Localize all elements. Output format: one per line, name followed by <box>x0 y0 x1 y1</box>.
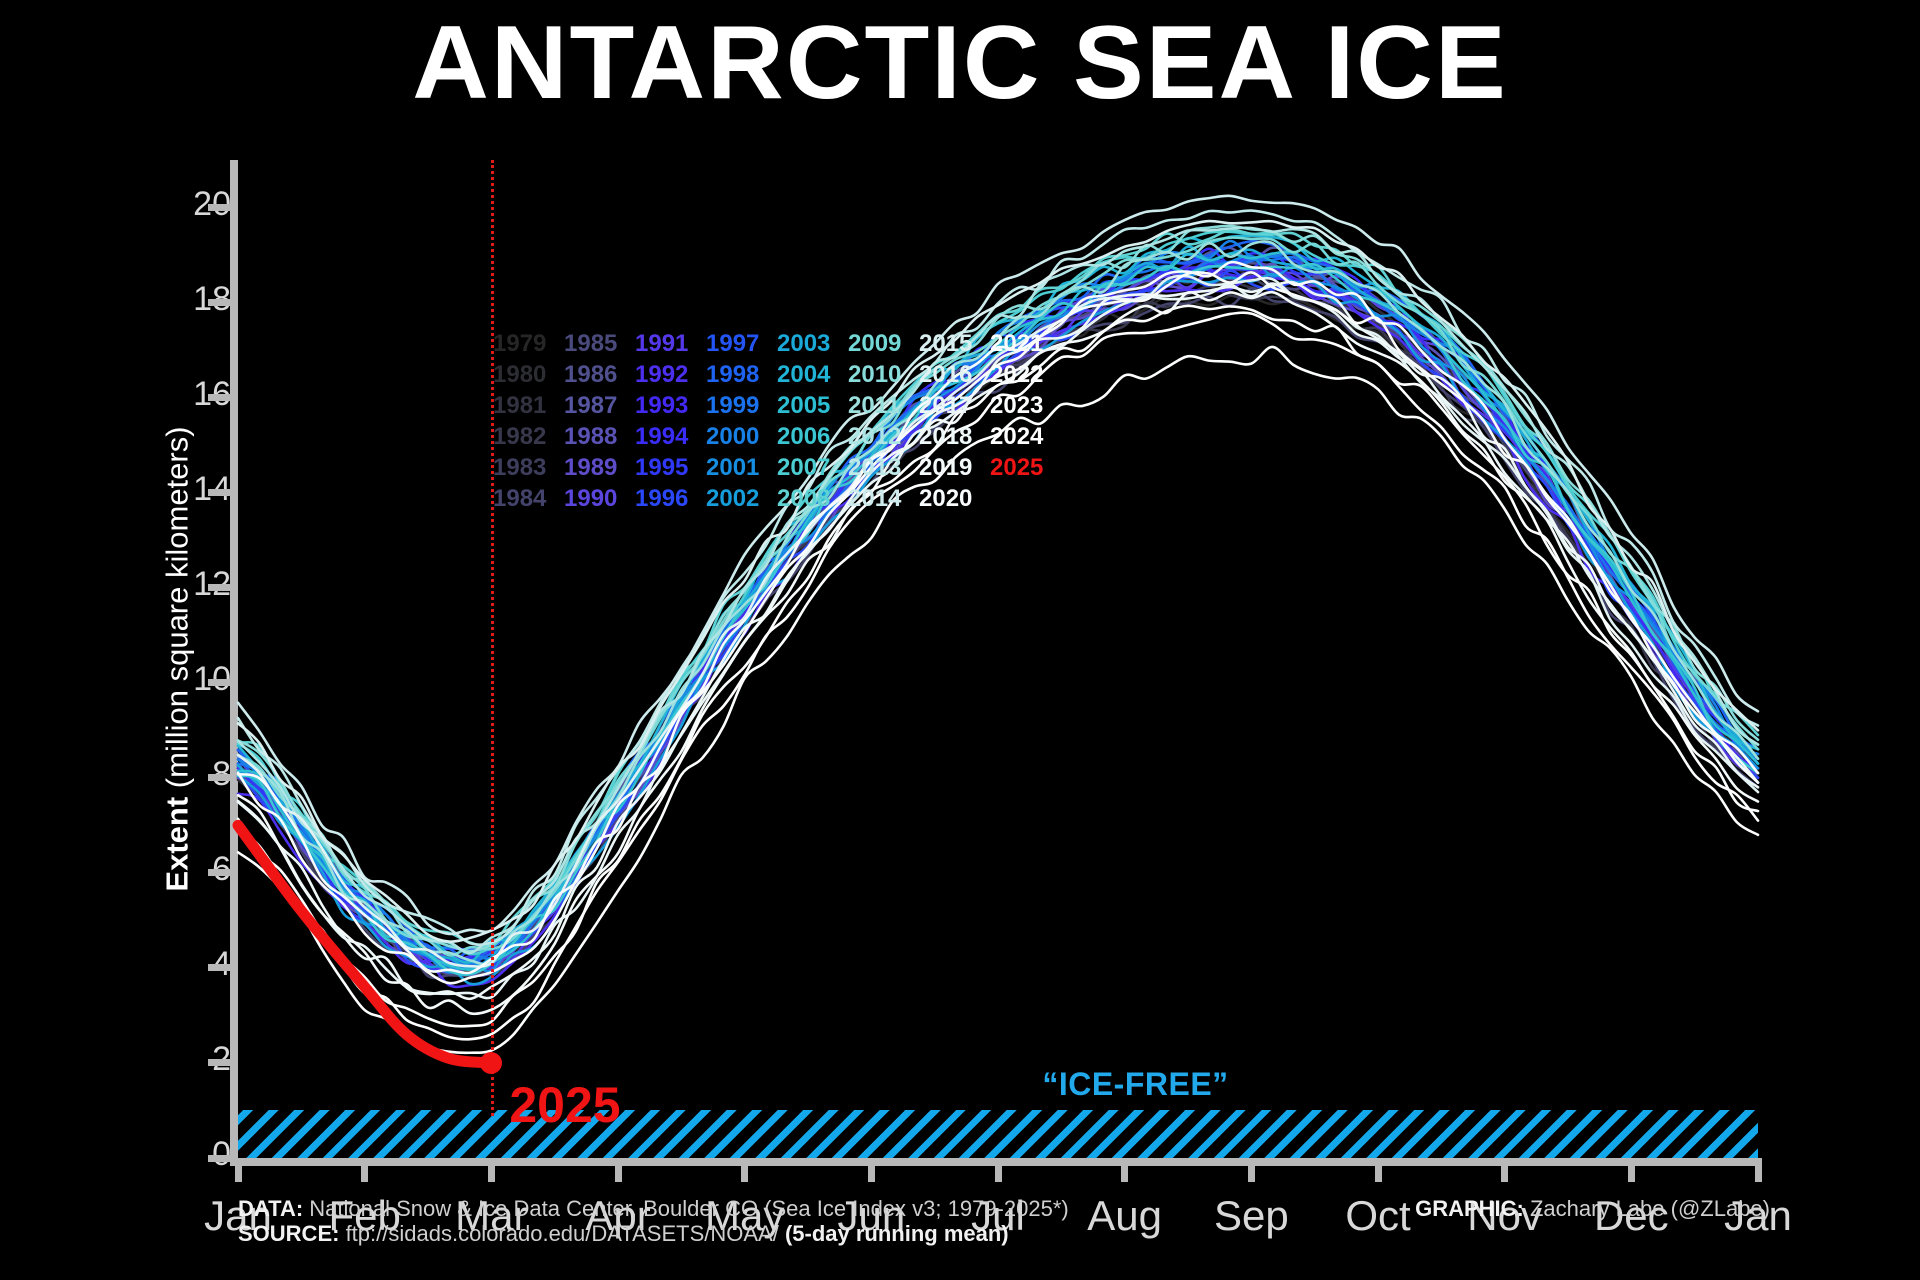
legend-year-2005[interactable]: 2005 <box>777 390 839 421</box>
legend-year-1994[interactable]: 1994 <box>635 421 697 452</box>
legend-year-2001[interactable]: 2001 <box>706 452 768 483</box>
x-tick <box>1248 1158 1255 1182</box>
current-year-endpoint-marker <box>480 1052 502 1074</box>
legend-year-1996[interactable]: 1996 <box>635 483 697 514</box>
x-tick <box>488 1158 495 1182</box>
legend-year-2015[interactable]: 2015 <box>919 328 981 359</box>
y-axis-title-bold: Extent <box>160 797 195 892</box>
legend-year-1985[interactable]: 1985 <box>564 328 626 359</box>
legend-year-1988[interactable]: 1988 <box>564 421 626 452</box>
x-tick-label: Sep <box>1214 1192 1289 1240</box>
legend-year-1982[interactable]: 1982 <box>493 421 555 452</box>
x-tick <box>1628 1158 1635 1182</box>
legend-year-2020[interactable]: 2020 <box>919 483 981 514</box>
legend-year-2021[interactable]: 2021 <box>990 328 1052 359</box>
x-tick <box>1121 1158 1128 1182</box>
y-tick <box>208 774 230 781</box>
legend-year-1990[interactable]: 1990 <box>564 483 626 514</box>
legend-year-2004[interactable]: 2004 <box>777 359 839 390</box>
legend-year-1981[interactable]: 1981 <box>493 390 555 421</box>
legend-year-1984[interactable]: 1984 <box>493 483 555 514</box>
footer-source-label: SOURCE: <box>238 1221 339 1246</box>
x-tick <box>1501 1158 1508 1182</box>
legend-year-1989[interactable]: 1989 <box>564 452 626 483</box>
y-axis-spine <box>230 160 238 1158</box>
footer-graphic-credit: GRAPHIC: Zachary Labe (@ZLabe) <box>1415 1196 1770 1222</box>
y-tick <box>208 1155 230 1162</box>
legend-year-2007[interactable]: 2007 <box>777 452 839 483</box>
legend-year-2013[interactable]: 2013 <box>848 452 910 483</box>
legend-year-2006[interactable]: 2006 <box>777 421 839 452</box>
x-tick <box>1375 1158 1382 1182</box>
legend-year-2000[interactable]: 2000 <box>706 421 768 452</box>
x-tick <box>868 1158 875 1182</box>
y-tick <box>208 299 230 306</box>
y-tick <box>208 869 230 876</box>
legend-year-2022[interactable]: 2022 <box>990 359 1052 390</box>
legend-year-1993[interactable]: 1993 <box>635 390 697 421</box>
chart-canvas: ANTARCTIC SEA ICE 02468101214161820 Exte… <box>0 0 1920 1280</box>
legend-year-2019[interactable]: 2019 <box>919 452 981 483</box>
legend-year-2011[interactable]: 2011 <box>848 390 910 421</box>
x-tick <box>235 1158 242 1182</box>
x-tick-label: Oct <box>1345 1192 1410 1240</box>
footer-sources: DATA: National Snow & Ice Data Center, B… <box>238 1196 1069 1246</box>
legend-year-2002[interactable]: 2002 <box>706 483 768 514</box>
y-tick <box>208 964 230 971</box>
legend-year-2010[interactable]: 2010 <box>848 359 910 390</box>
x-tick <box>615 1158 622 1182</box>
footer-source-line: SOURCE: ftp://sidads.colorado.edu/DATASE… <box>238 1221 1069 1246</box>
legend-year-1992[interactable]: 1992 <box>635 359 697 390</box>
y-axis-title-rest: (million square kilometers) <box>160 426 195 796</box>
legend-year-1997[interactable]: 1997 <box>706 328 768 359</box>
legend-year-2016[interactable]: 2016 <box>919 359 981 390</box>
y-tick <box>208 394 230 401</box>
legend-year-1999[interactable]: 1999 <box>706 390 768 421</box>
legend-year-2014[interactable]: 2014 <box>848 483 910 514</box>
footer-data-line: DATA: National Snow & Ice Data Center, B… <box>238 1196 1069 1221</box>
page-title: ANTARCTIC SEA ICE <box>0 8 1920 118</box>
footer-graphic-label: GRAPHIC: <box>1415 1196 1524 1221</box>
legend-year-2009[interactable]: 2009 <box>848 328 910 359</box>
y-tick <box>208 679 230 686</box>
legend-year-2012[interactable]: 2012 <box>848 421 910 452</box>
legend-year-1998[interactable]: 1998 <box>706 359 768 390</box>
x-tick <box>361 1158 368 1182</box>
y-tick <box>208 489 230 496</box>
y-tick <box>208 584 230 591</box>
legend-year-1987[interactable]: 1987 <box>564 390 626 421</box>
legend-year-2024[interactable]: 2024 <box>990 421 1052 452</box>
footer-graphic-text: Zachary Labe (@ZLabe) <box>1524 1196 1770 1221</box>
year-legend: 1979198019811982198319841985198619871988… <box>493 328 1052 514</box>
x-tick <box>1755 1158 1762 1182</box>
legend-year-2018[interactable]: 2018 <box>919 421 981 452</box>
legend-year-2008[interactable]: 2008 <box>777 483 839 514</box>
footer-source-text: ftp://sidads.colorado.edu/DATASETS/NOAA/ <box>339 1221 785 1246</box>
footer-data-label: DATA: <box>238 1196 303 1221</box>
legend-year-1980[interactable]: 1980 <box>493 359 555 390</box>
x-tick <box>741 1158 748 1182</box>
legend-year-1979[interactable]: 1979 <box>493 328 555 359</box>
y-tick <box>208 1059 230 1066</box>
current-year-label: 2025 <box>509 1076 620 1134</box>
legend-year-2017[interactable]: 2017 <box>919 390 981 421</box>
sea-ice-line-series <box>238 160 1758 1158</box>
x-tick-label: Aug <box>1087 1192 1162 1240</box>
y-tick <box>208 204 230 211</box>
current-date-line <box>491 160 494 1116</box>
legend-year-1991[interactable]: 1991 <box>635 328 697 359</box>
legend-year-2025[interactable]: 2025 <box>990 452 1052 483</box>
legend-year-1995[interactable]: 1995 <box>635 452 697 483</box>
legend-year-1986[interactable]: 1986 <box>564 359 626 390</box>
plot-area: Extent (million square kilometers) JanFe… <box>238 160 1758 1158</box>
footer-data-text: National Snow & Ice Data Center, Boulder… <box>303 1196 1069 1221</box>
x-tick <box>995 1158 1002 1182</box>
footer-source-note: (5-day running mean) <box>785 1221 1009 1246</box>
legend-year-2023[interactable]: 2023 <box>990 390 1052 421</box>
legend-year-1983[interactable]: 1983 <box>493 452 555 483</box>
year-line <box>238 211 1758 945</box>
y-axis-title: Extent (million square kilometers) <box>148 160 208 1158</box>
legend-year-2003[interactable]: 2003 <box>777 328 839 359</box>
